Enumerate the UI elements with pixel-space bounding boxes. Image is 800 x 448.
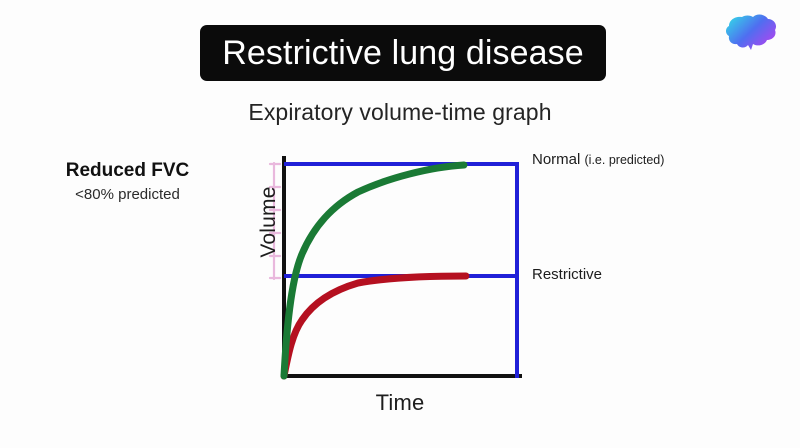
restrictive-curve (284, 276, 466, 376)
slide-subtitle: Expiratory volume-time graph (0, 99, 800, 126)
normal-curve (284, 165, 464, 376)
y-axis-title: Volume (257, 167, 281, 277)
annotation-title: Reduced FVC (20, 160, 235, 182)
brain-logo-icon (722, 10, 784, 56)
page-title: Restrictive lung disease (222, 36, 583, 70)
slide-title-banner: Restrictive lung disease (200, 25, 606, 81)
volume-time-chart: Volume Time (230, 150, 530, 390)
legend-label-normal: Normal (i.e. predicted) (532, 151, 664, 168)
legend-label-normal-qualifier: (i.e. predicted) (585, 153, 665, 167)
annotation-subtitle: <80% predicted (20, 186, 235, 203)
reduced-fvc-annotation: Reduced FVC <80% predicted (20, 160, 235, 203)
legend-label-restrictive: Restrictive (532, 266, 602, 283)
slide-canvas: Restrictive lung disease Expiratory volu… (0, 0, 800, 448)
legend-label-normal-main: Normal (532, 151, 580, 168)
x-axis-title: Time (270, 390, 530, 416)
